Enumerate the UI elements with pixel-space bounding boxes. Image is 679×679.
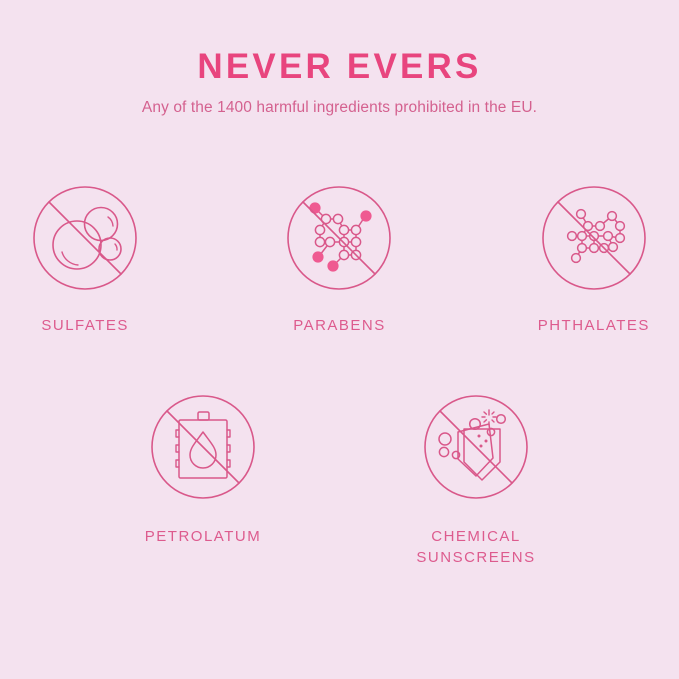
item-petrolatum: PETROLATUM [109,394,297,547]
page-subtitle: Any of the 1400 harmful ingredients proh… [0,88,679,119]
icon-row-top: SULFATES [0,185,679,336]
no-chemical-sunscreens-shield-icon [423,394,529,500]
icon-row-bottom: PETROLATUM [0,394,679,568]
no-petrolatum-barrel-icon [150,394,256,500]
page-title: NEVER EVERS [0,0,679,88]
never-evers-infographic: NEVER EVERS Any of the 1400 harmful ingr… [0,0,679,679]
item-parabens: PARABENS [254,185,424,336]
item-label: CHEMICAL SUNSCREENS [416,526,535,568]
item-chemical-sunscreens: CHEMICAL SUNSCREENS [382,394,570,568]
icon-grid: SULFATES [0,185,679,568]
item-phthalates: PHTHALATES [509,185,679,336]
item-label: PETROLATUM [145,526,261,547]
no-sulfates-bubbles-icon [32,185,138,291]
no-phthalates-molecule-icon [541,185,647,291]
no-parabens-molecule-icon [286,185,392,291]
item-sulfates: SULFATES [0,185,170,336]
header: NEVER EVERS Any of the 1400 harmful ingr… [0,0,679,119]
item-label: PHTHALATES [538,315,650,336]
item-label: SULFATES [41,315,129,336]
item-label: PARABENS [293,315,386,336]
